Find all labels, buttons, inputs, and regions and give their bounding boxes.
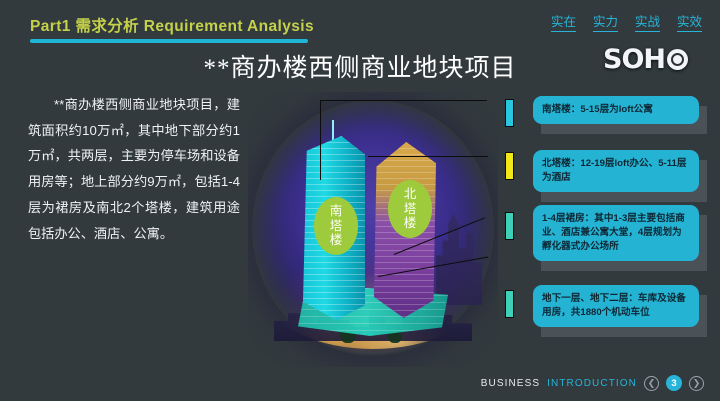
chevron-right-icon[interactable]: ❯ — [689, 376, 704, 391]
section-title-underline — [30, 39, 308, 43]
section-title: Part1 需求分析 Requirement Analysis — [30, 14, 314, 36]
footer: BUSINESS INTRODUCTION ❮ 3 ❯ — [481, 375, 704, 391]
nav-item-1[interactable]: 实力 — [593, 16, 618, 32]
leader-line-1-horizontal — [320, 100, 487, 101]
marker-bar-2 — [505, 152, 514, 180]
footer-business-label: BUSINESS — [481, 378, 540, 389]
footer-introduction-label: INTRODUCTION — [547, 378, 637, 389]
north-tower-label: 北 塔 楼 — [388, 180, 432, 238]
nav-item-2[interactable]: 实战 — [635, 16, 660, 32]
callout-north-tower[interactable]: 北塔楼：12-19层loft办公、5-11层为酒店 — [533, 150, 699, 192]
south-tower-label: 南 塔 楼 — [314, 197, 358, 255]
north-tower-label-text: 北 塔 楼 — [404, 187, 417, 231]
top-nav: 实在 实力 实战 实效 — [551, 16, 702, 32]
description-paragraph: **商办楼西侧商业地块项目，建筑面积约10万㎡，其中地下部分约1万㎡，共两层，主… — [28, 92, 240, 246]
south-tower-label-text: 南 塔 楼 — [330, 204, 343, 248]
page-number-badge: 3 — [666, 375, 682, 391]
callout-basement[interactable]: 地下一层、地下二层：车库及设备用房，共1880个机动车位 — [533, 285, 699, 327]
callout-text-1: 南塔楼：5-15层为loft公寓 — [533, 96, 699, 124]
marker-bar-1 — [505, 99, 514, 127]
building-illustration: 南 塔 楼 北 塔 楼 — [248, 92, 498, 367]
leader-line-2 — [368, 156, 488, 157]
callout-text-3: 1-4层裙房：其中1-3层主要包括商业、酒店兼公寓大堂，4层规划为孵化器式办公场… — [533, 205, 699, 261]
nav-item-3[interactable]: 实效 — [677, 16, 702, 32]
marker-bar-3 — [505, 212, 514, 240]
page-title: **商办楼西侧商业地块项目 — [0, 48, 720, 84]
callout-south-tower[interactable]: 南塔楼：5-15层为loft公寓 — [533, 96, 699, 124]
nav-item-0[interactable]: 实在 — [551, 16, 576, 32]
leader-line-1-vertical — [320, 100, 321, 180]
callout-text-2: 北塔楼：12-19层loft办公、5-11层为酒店 — [533, 150, 699, 192]
south-tower-spire — [332, 120, 334, 140]
chevron-left-icon[interactable]: ❮ — [644, 376, 659, 391]
callout-text-4: 地下一层、地下二层：车库及设备用房，共1880个机动车位 — [533, 285, 699, 327]
slide-canvas: Part1 需求分析 Requirement Analysis 实在 实力 实战… — [0, 0, 720, 401]
marker-bar-4 — [505, 290, 514, 318]
callout-podium[interactable]: 1-4层裙房：其中1-3层主要包括商业、酒店兼公寓大堂，4层规划为孵化器式办公场… — [533, 205, 699, 261]
